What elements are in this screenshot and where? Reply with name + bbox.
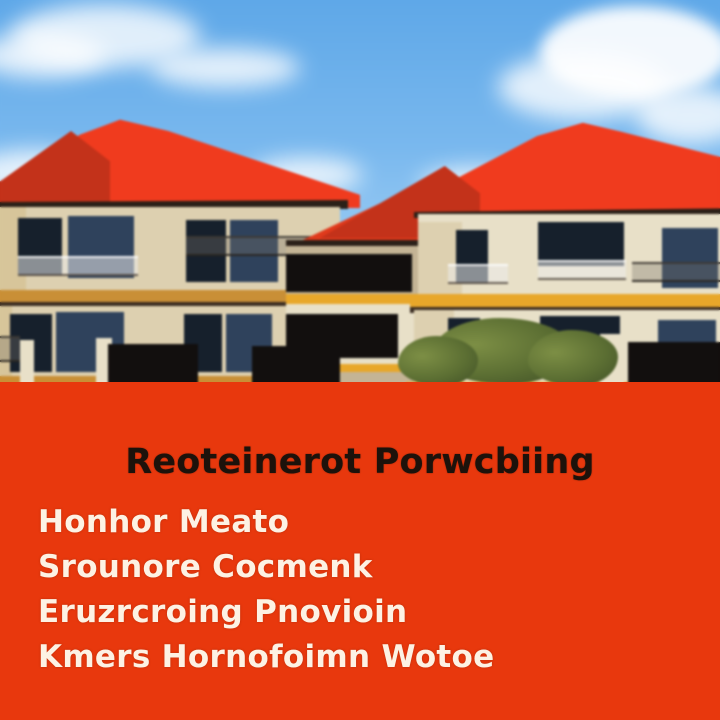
poster-image: Reoteinerot Porwcbiing Honhor Meato Srou…: [0, 0, 720, 720]
poster-line-2: Srounore Cocmenk: [38, 545, 698, 590]
cloud-left-small: [0, 34, 106, 78]
photo-region: [0, 0, 720, 384]
poster-headline: Reoteinerot Porwcbiing: [0, 442, 720, 482]
poster-line-4: Kmers Hornofoimn Wotoe: [38, 635, 698, 680]
left-building-railing-top: [18, 256, 138, 276]
right-building-railing-top-mid: [538, 260, 626, 280]
right-building-band-upper: [410, 294, 720, 308]
right-building-railing-top-left: [448, 264, 508, 284]
right-building-railing-top-right: [632, 262, 720, 282]
text-panel: Reoteinerot Porwcbiing Honhor Meato Srou…: [0, 382, 720, 720]
ground-shadow-band: [108, 344, 198, 384]
left-building-railing-mid: [0, 336, 20, 362]
poster-line-1: Honhor Meato: [38, 500, 698, 545]
poster-line-3: Eruzrcroing Pnovioin: [38, 590, 698, 635]
ground-shadow-band-3: [628, 342, 720, 384]
cloud-mid: [150, 48, 300, 88]
ground-shadow-band-2: [252, 346, 340, 384]
pier-left: [20, 340, 34, 384]
foliage-center-right: [528, 330, 618, 384]
poster-line-list: Honhor Meato Srounore Cocmenk Eruzrcroin…: [38, 500, 698, 680]
foliage-center-left: [398, 336, 478, 384]
